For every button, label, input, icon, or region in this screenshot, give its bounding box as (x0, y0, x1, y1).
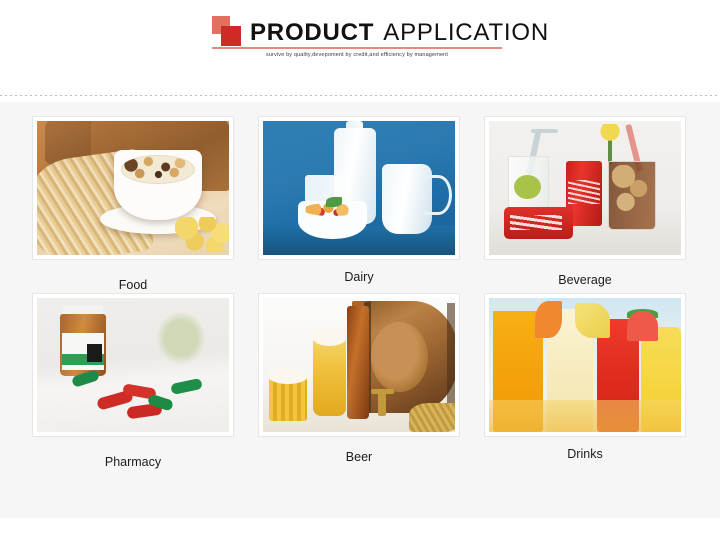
card-image-drinks (489, 298, 681, 432)
tagline: survive by quality,devepoment by credit,… (212, 51, 502, 60)
foreground-fruit-icon (489, 400, 681, 432)
page-header: PRODUCT APPLICATION survive by quality,d… (0, 0, 720, 92)
mango-slice-icon (535, 301, 562, 339)
barrel-head-icon (371, 322, 429, 392)
card-image-pharmacy (37, 298, 229, 432)
cola-can-label-icon (568, 180, 601, 204)
orange-glass-rim-icon (493, 298, 543, 311)
dotted-divider (0, 95, 720, 96)
grid-row-top: Food (20, 116, 700, 293)
lime-slice-icon (514, 175, 541, 199)
grid-cell-dairy: Dairy (246, 116, 472, 293)
grid-cell-beer: Beer (246, 293, 472, 470)
beer-scene-image (263, 298, 455, 432)
grid-row-bottom: Pharmacy (20, 293, 700, 470)
food-scene-image (37, 121, 229, 255)
application-card-food[interactable] (32, 116, 234, 260)
application-grid: Food (20, 116, 700, 470)
pharmacy-scene-image (37, 298, 229, 432)
card-label-food: Food (119, 260, 148, 293)
barrel-hoop-right-icon (447, 303, 455, 410)
drinks-scene-image (489, 298, 681, 432)
card-image-dairy (263, 121, 455, 255)
card-label-drinks: Drinks (567, 437, 602, 462)
title-block: PRODUCT APPLICATION survive by quality,d… (212, 14, 502, 46)
card-image-food (37, 121, 229, 255)
card-image-beer (263, 298, 455, 432)
watermelon-slice-icon (627, 311, 658, 340)
background-blur-icon (156, 311, 206, 365)
beer-bottle-icon (347, 306, 368, 419)
page-title-bold: PRODUCT (250, 20, 374, 46)
content-panel: Food (0, 102, 720, 518)
flower-vase-icon (595, 124, 626, 164)
cereal-bits-icon (121, 156, 192, 181)
grid-cell-beverage: Beverage (472, 116, 698, 293)
cola-can-lying-label-icon (510, 215, 562, 230)
grid-cell-food: Food (20, 116, 246, 293)
jug-handle-icon (424, 175, 452, 216)
application-card-drinks[interactable] (484, 293, 686, 437)
beverage-scene-image (489, 121, 681, 255)
beer-foam-icon (312, 327, 347, 346)
dairy-scene-image (263, 121, 455, 255)
logo-squares-icon (212, 16, 246, 46)
application-card-dairy[interactable] (258, 116, 460, 260)
application-card-beverage[interactable] (484, 116, 686, 260)
card-label-beverage: Beverage (558, 260, 612, 288)
card-image-beverage (489, 121, 681, 255)
application-card-pharmacy[interactable] (32, 293, 234, 437)
card-label-dairy: Dairy (344, 260, 373, 285)
ice-cubes-icon (612, 165, 650, 221)
page-title-light: APPLICATION (383, 20, 549, 46)
barrel-tap-icon (378, 389, 386, 416)
application-card-beer[interactable] (258, 293, 460, 437)
capsule-green-3-icon (171, 378, 203, 395)
logo-square-dark-icon (221, 26, 241, 46)
title-row: PRODUCT APPLICATION (212, 14, 502, 46)
slide-page: PRODUCT APPLICATION survive by quality,d… (0, 0, 720, 542)
barley-icon (409, 403, 455, 432)
pineapple-wedge-icon (575, 303, 610, 338)
mint-leaf-icon (326, 197, 341, 206)
card-label-pharmacy: Pharmacy (105, 437, 161, 470)
beer-mug-foam-icon (268, 368, 308, 384)
grid-cell-drinks: Drinks (472, 293, 698, 470)
title-underline (212, 47, 502, 49)
rx-symbol-icon (87, 344, 102, 363)
card-label-beer: Beer (346, 437, 372, 465)
grid-cell-pharmacy: Pharmacy (20, 293, 246, 470)
pasta-pieces-icon (175, 217, 229, 252)
